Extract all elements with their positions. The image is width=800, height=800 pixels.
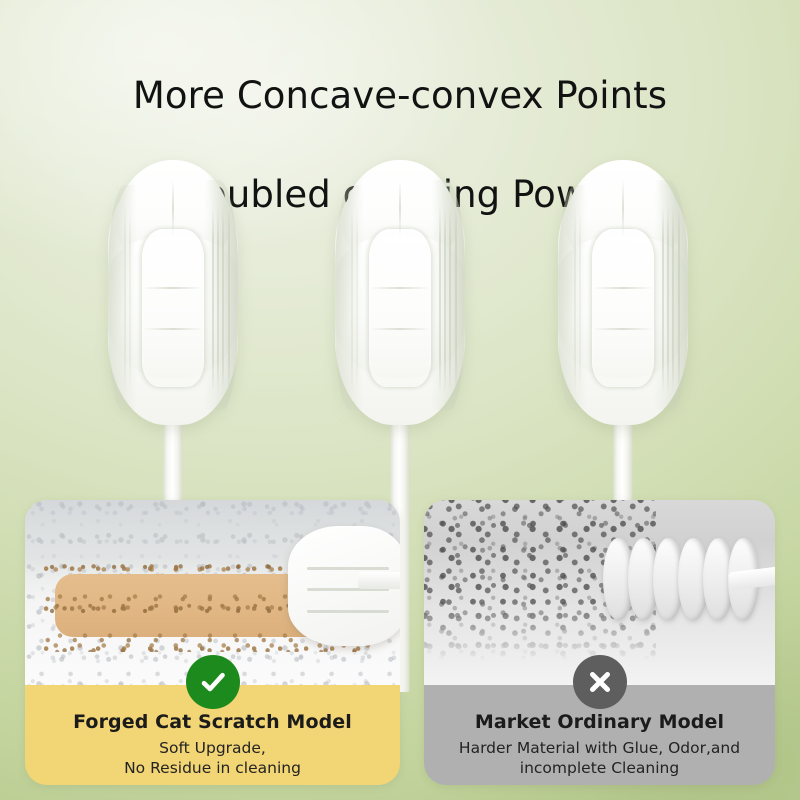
head-center-pad [592, 229, 654, 387]
head-center-pad [369, 229, 431, 387]
head-pad-line [143, 287, 203, 289]
cross-icon [585, 667, 615, 697]
cross-badge [573, 655, 627, 709]
head-pad-line [370, 328, 430, 330]
head-pad-line [593, 328, 653, 330]
comparison-card-good: Forged Cat Scratch Model Soft Upgrade, N… [25, 500, 400, 785]
caption-bad-title: Market Ordinary Model [424, 711, 775, 734]
head-center-pad [142, 229, 204, 387]
check-icon [198, 667, 228, 697]
comparison-card-bad: Market Ordinary Model Harder Material wi… [424, 500, 775, 785]
swab-head-3 [558, 170, 688, 425]
head-pad-line [143, 328, 203, 330]
head-pad-line [593, 287, 653, 289]
promo-image: More Concave-convex Points Doubled clean… [0, 0, 800, 800]
check-badge [186, 655, 240, 709]
swab-handle-closeup [358, 572, 400, 589]
head-pad-line [370, 287, 430, 289]
head-center-groove [399, 180, 402, 236]
headline-line-1: More Concave-convex Points [0, 71, 800, 120]
ordinary-brush-head [603, 538, 753, 620]
head-center-groove [172, 180, 175, 236]
caption-good-title: Forged Cat Scratch Model [25, 711, 400, 734]
swab-head-1 [108, 170, 238, 425]
head-center-groove [622, 180, 625, 236]
swab-head-2 [335, 170, 465, 425]
caption-bad-subtitle: Harder Material with Glue, Odor,and inco… [424, 739, 775, 779]
caption-good-subtitle: Soft Upgrade, No Residue in cleaning [25, 739, 400, 779]
